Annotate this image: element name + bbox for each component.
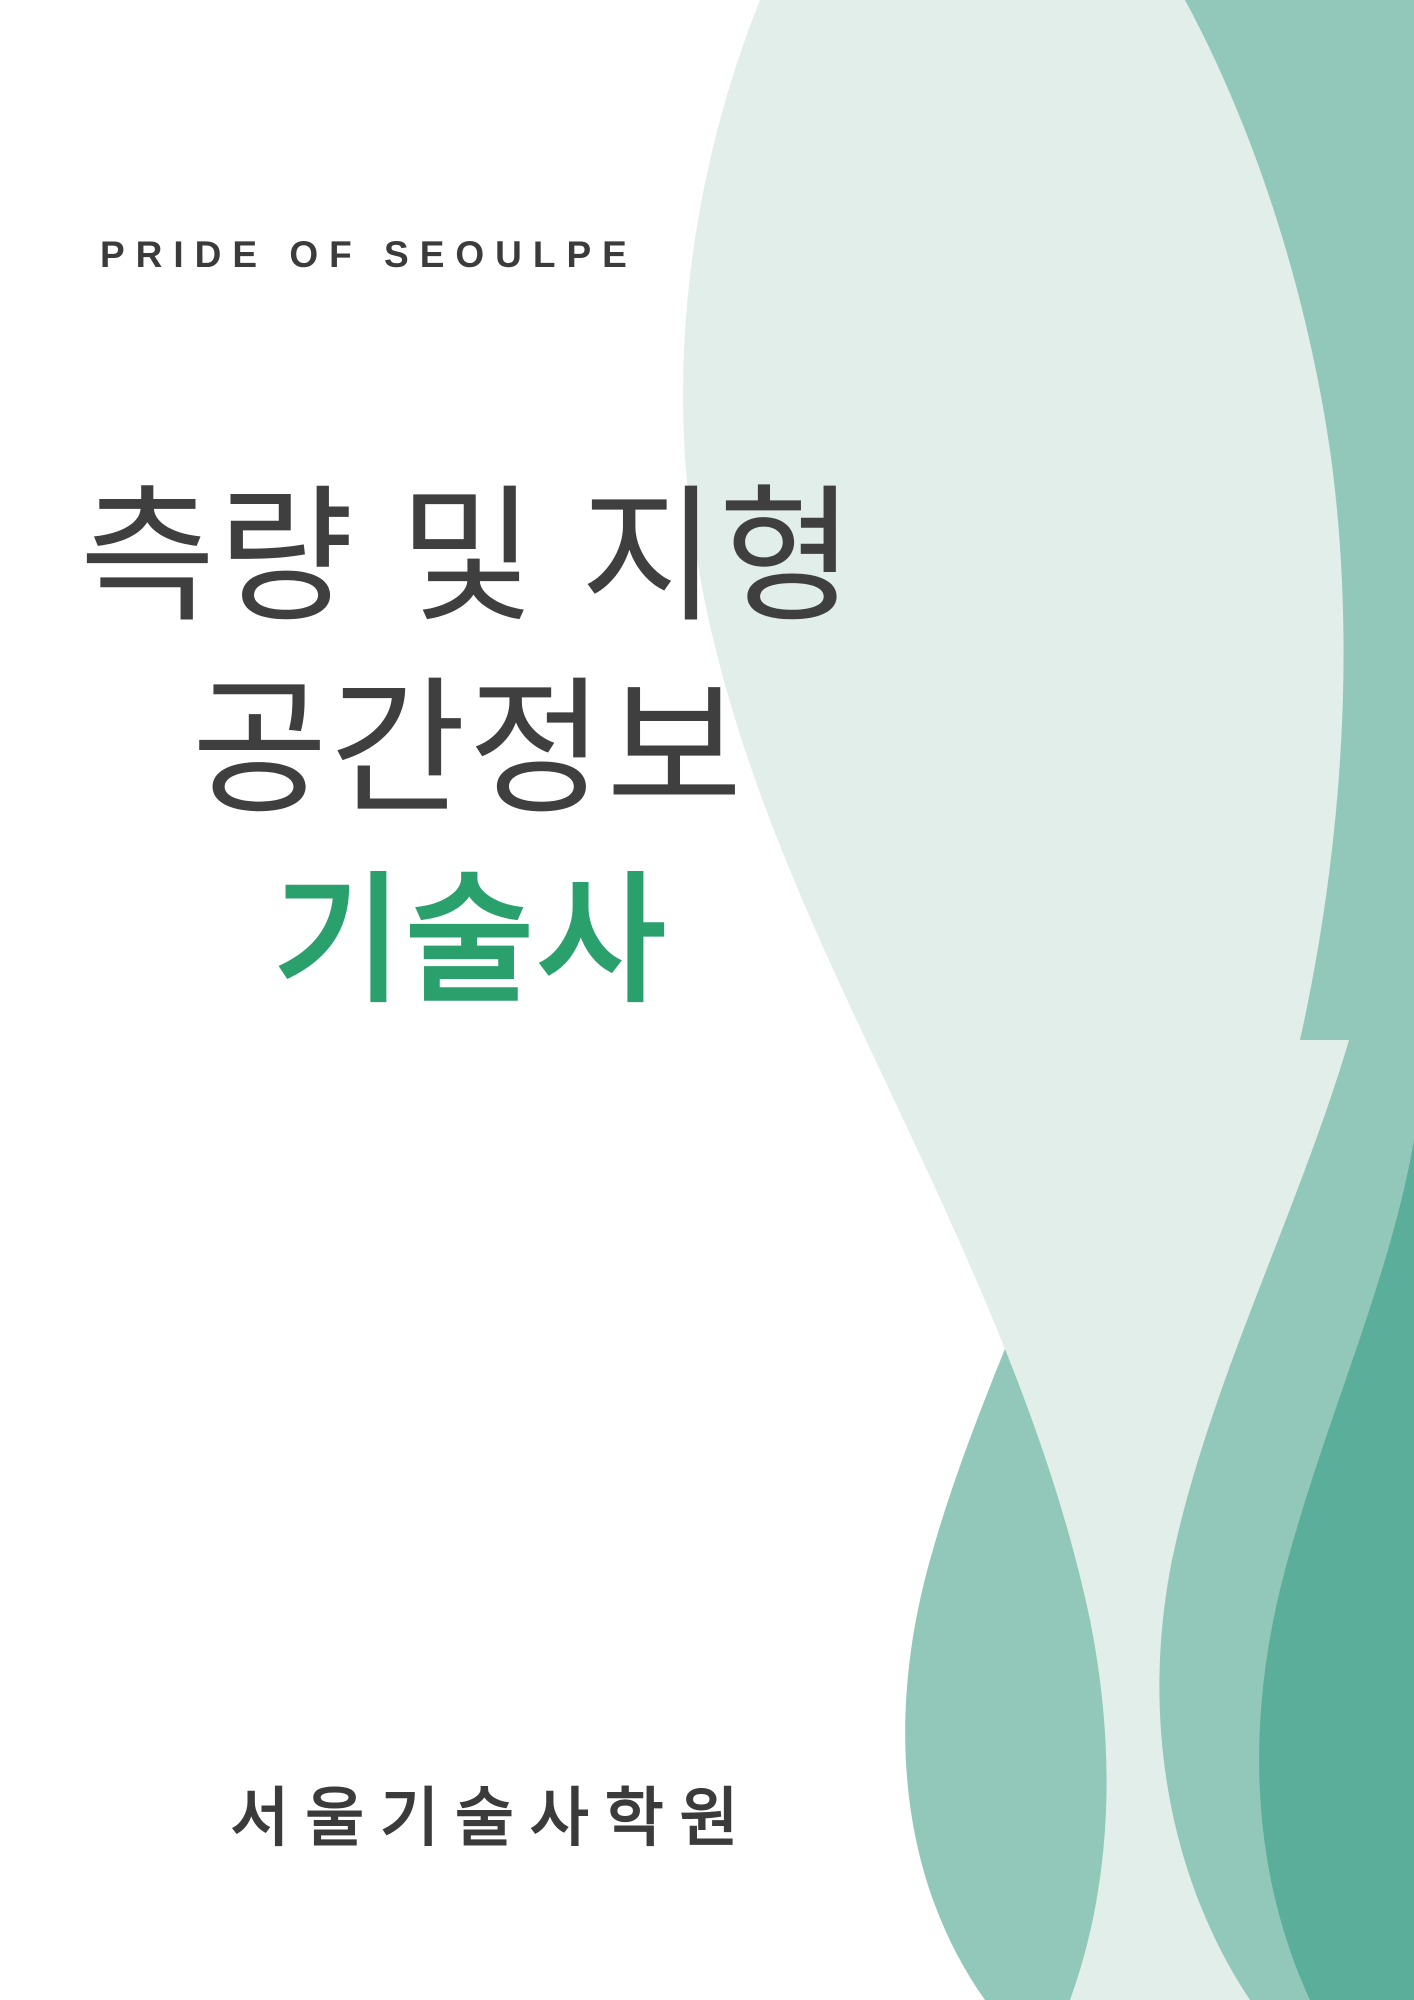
- title-line-1: 측량 및 지형: [0, 462, 950, 654]
- title-line-2: 공간정보: [0, 654, 950, 846]
- cover-content: PRIDE OF SEOULPE 측량 및 지형 공간정보 기술사 서울기술사학…: [0, 0, 1414, 2000]
- kicker-text: PRIDE OF SEOULPE: [100, 236, 638, 273]
- title-block: 측량 및 지형 공간정보 기술사: [0, 462, 950, 1034]
- book-cover: PRIDE OF SEOULPE 측량 및 지형 공간정보 기술사 서울기술사학…: [0, 0, 1414, 2000]
- publisher-brand: 서울기술사학원: [0, 1780, 985, 1857]
- title-accent-line: 기술사: [0, 847, 950, 1035]
